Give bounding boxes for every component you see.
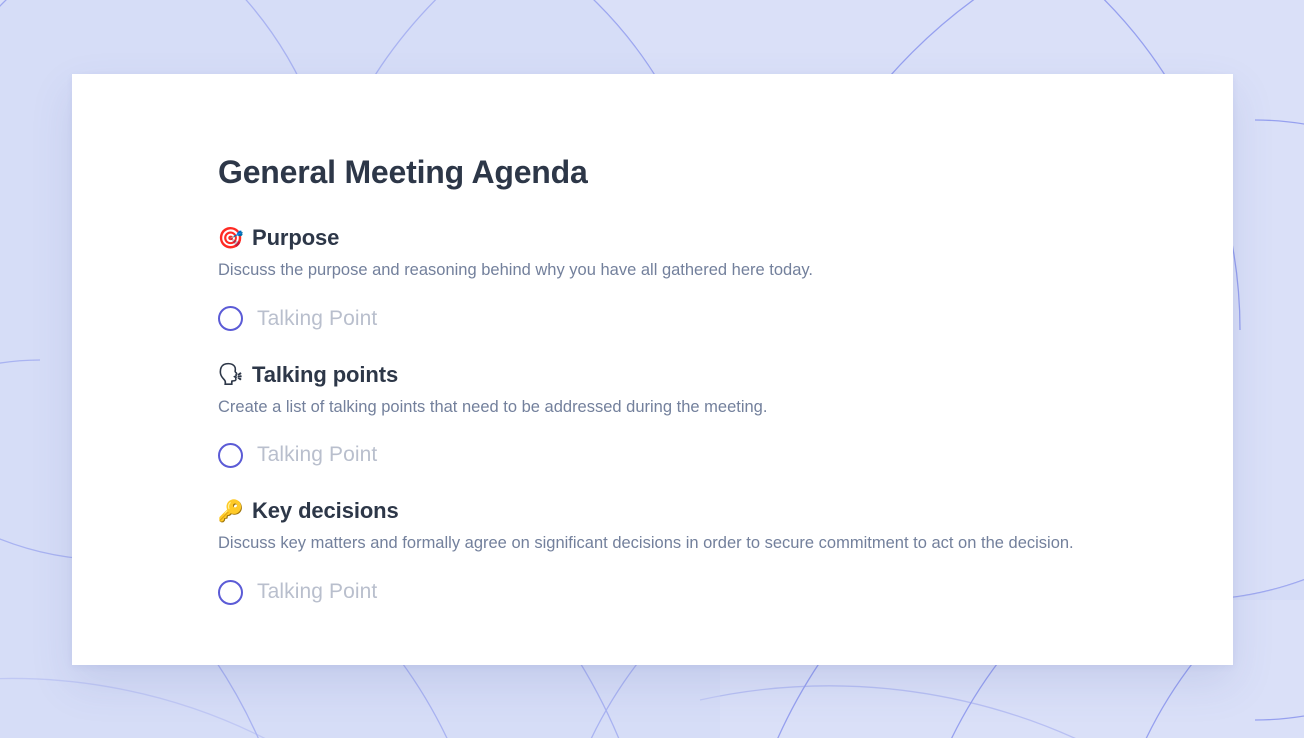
agenda-section-purpose: 🎯 Purpose Discuss the purpose and reason… <box>218 225 1233 336</box>
talking-point-row[interactable]: Talking Point <box>218 575 1233 609</box>
document-card: General Meeting Agenda 🎯 Purpose Discuss… <box>72 74 1233 665</box>
checkbox-circle-icon[interactable] <box>218 306 243 331</box>
checkbox-circle-icon[interactable] <box>218 443 243 468</box>
section-description-purpose: Discuss the purpose and reasoning behind… <box>218 257 1233 284</box>
section-heading-purpose: 🎯 Purpose <box>218 225 1233 251</box>
section-description-talking-points: Create a list of talking points that nee… <box>218 394 1233 421</box>
talking-point-placeholder[interactable]: Talking Point <box>257 443 377 467</box>
section-heading-label: Key decisions <box>252 498 399 524</box>
section-description-key-decisions: Discuss key matters and formally agree o… <box>218 530 1233 557</box>
talking-point-placeholder[interactable]: Talking Point <box>257 307 377 331</box>
speaking-head-icon: 🗣 <box>218 362 243 387</box>
section-heading-label: Talking points <box>252 362 398 388</box>
talking-point-row[interactable]: Talking Point <box>218 438 1233 472</box>
agenda-section-key-decisions: 🔑 Key decisions Discuss key matters and … <box>218 498 1233 609</box>
document-body: General Meeting Agenda 🎯 Purpose Discuss… <box>218 154 1233 635</box>
talking-point-placeholder[interactable]: Talking Point <box>257 580 377 604</box>
page-title: General Meeting Agenda <box>218 154 1233 191</box>
bullseye-target-icon: 🎯 <box>218 226 243 251</box>
section-heading-talking-points: 🗣 Talking points <box>218 362 1233 388</box>
agenda-section-talking-points: 🗣 Talking points Create a list of talkin… <box>218 362 1233 473</box>
talking-point-row[interactable]: Talking Point <box>218 302 1233 336</box>
section-heading-key-decisions: 🔑 Key decisions <box>218 498 1233 524</box>
checkbox-circle-icon[interactable] <box>218 580 243 605</box>
section-heading-label: Purpose <box>252 225 339 251</box>
key-icon: 🔑 <box>218 499 243 524</box>
